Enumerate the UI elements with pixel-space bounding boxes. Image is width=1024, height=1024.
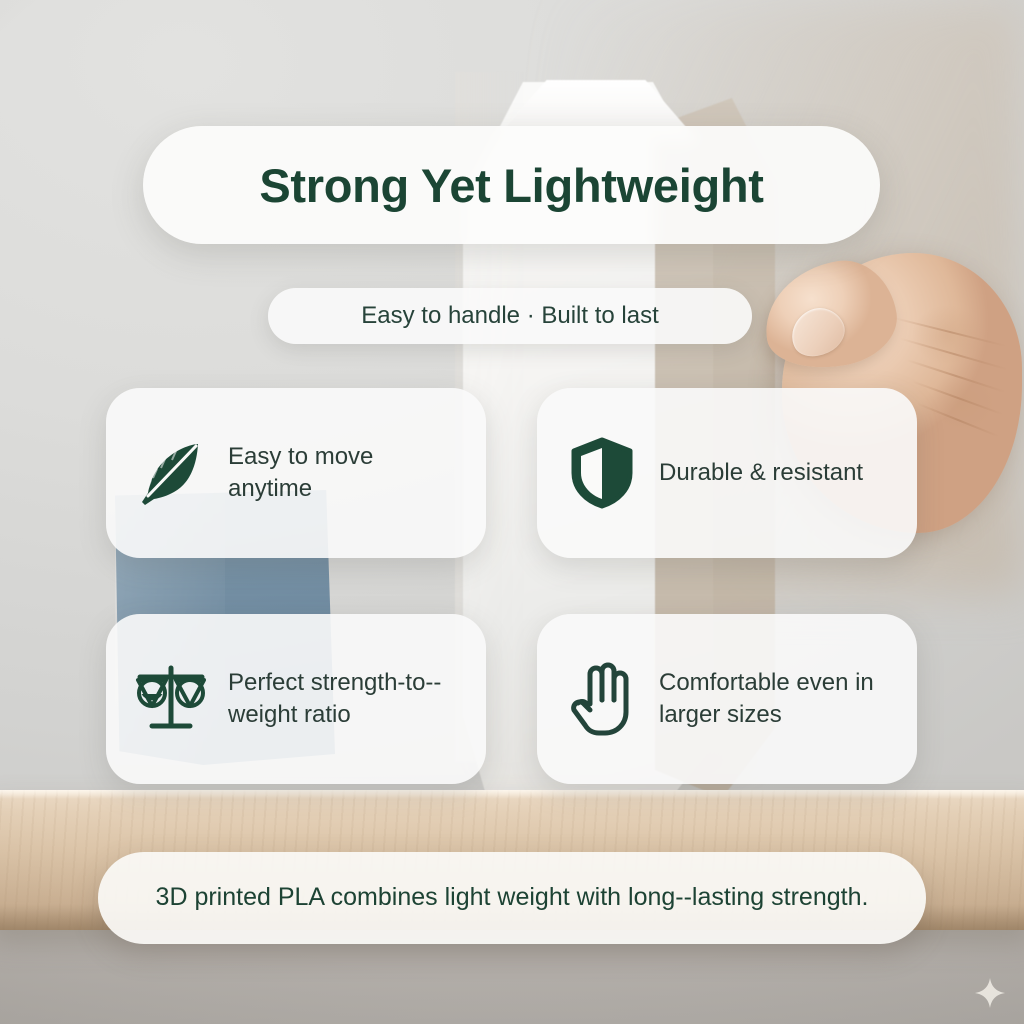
feature-label: Comfortable even in larger sizes xyxy=(659,667,895,730)
hand-icon xyxy=(563,660,641,738)
footer-caption-bar: 3D printed PLA combines light weight wit… xyxy=(98,852,926,944)
subtitle-text: Easy to handle · Built to last xyxy=(361,302,659,330)
shield-icon xyxy=(563,434,641,512)
feature-card-strength-to-weight[interactable]: Perfect strength-to--weight ratio xyxy=(106,614,486,784)
infographic-overlay: Strong Yet Lightweight Easy to handle · … xyxy=(0,0,1024,1024)
feature-card-easy-to-move[interactable]: Easy to move anytime xyxy=(106,388,486,558)
feature-card-durable[interactable]: Durable & resistant xyxy=(537,388,917,558)
page-title: Strong Yet Lightweight xyxy=(259,158,763,213)
feature-card-comfortable[interactable]: Comfortable even in larger sizes xyxy=(537,614,917,784)
scales-icon xyxy=(132,660,210,738)
subtitle-pill: Easy to handle · Built to last xyxy=(268,288,752,344)
feature-label: Easy to move anytime xyxy=(228,441,464,504)
feature-label: Perfect strength-to--weight ratio xyxy=(228,667,464,730)
feather-icon xyxy=(132,434,210,512)
sparkle-icon xyxy=(975,978,1005,1008)
feature-label: Durable & resistant xyxy=(659,457,863,489)
title-banner: Strong Yet Lightweight xyxy=(143,126,880,244)
footer-caption: 3D printed PLA combines light weight wit… xyxy=(116,881,909,915)
